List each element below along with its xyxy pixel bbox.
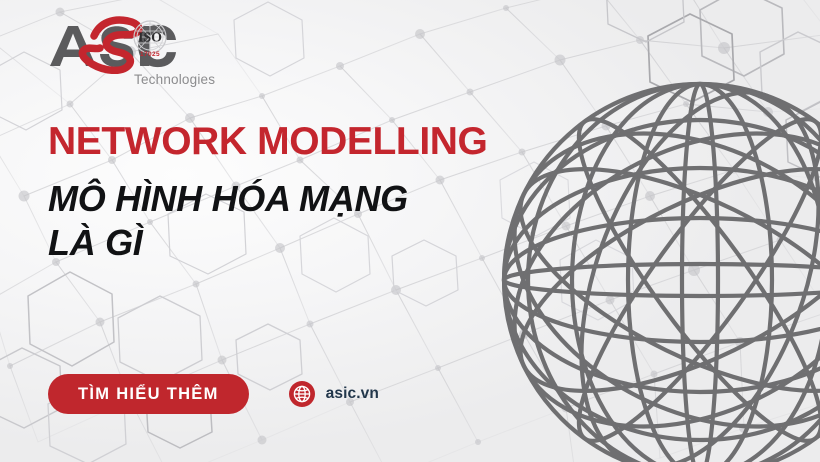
- globe-icon: [289, 381, 315, 407]
- iso-badge-label: ISO: [138, 31, 162, 46]
- headline-title-english: NETWORK MODELLING: [48, 122, 528, 163]
- headline-vietnamese-line-1: MÔ HÌNH HÓA MẠNG: [48, 177, 528, 221]
- headline-vietnamese-line-2: LÀ GÌ: [48, 221, 528, 265]
- banner-root: ISO 17025 Technologies NETWORK MODELLING…: [0, 0, 820, 462]
- iso-certification-badge-icon: ISO 17025: [127, 18, 173, 60]
- headline-block: NETWORK MODELLING MÔ HÌNH HÓA MẠNG LÀ GÌ: [48, 122, 528, 265]
- iso-badge-standard: 17025: [140, 51, 160, 58]
- call-to-action-row: TÌM HIỂU THÊM asic.vn: [48, 374, 379, 414]
- website-url-label: asic.vn: [326, 385, 379, 403]
- learn-more-button[interactable]: TÌM HIỂU THÊM: [48, 374, 249, 414]
- asic-logo-tagline: Technologies: [134, 72, 215, 87]
- headline-title-vietnamese: MÔ HÌNH HÓA MẠNG LÀ GÌ: [48, 177, 528, 265]
- asic-logo[interactable]: ISO 17025 Technologies: [48, 16, 238, 86]
- website-group[interactable]: asic.vn: [289, 381, 379, 407]
